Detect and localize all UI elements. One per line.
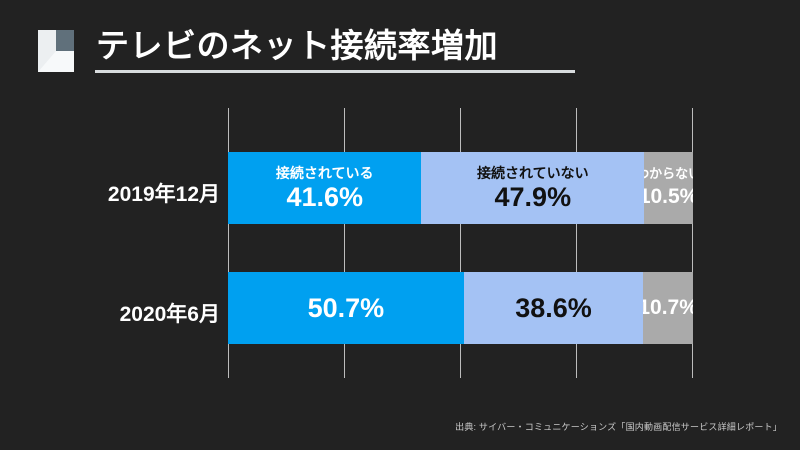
bar-segment-not-connected-2020-06[interactable]: 38.6% xyxy=(464,272,643,344)
segment-category-label-connected: 接続されている xyxy=(276,165,374,182)
chart-plot-area: 接続されている 41.6% 接続されていない 47.9% わからない 10.5%… xyxy=(228,108,693,378)
bar-segment-connected-2019-12[interactable]: 接続されている 41.6% xyxy=(228,152,421,224)
bar-row-2020-06: 50.7% 38.6% 10.7% xyxy=(228,272,693,344)
category-label-2019-12: 2019年12月 xyxy=(20,178,220,208)
segment-value-label-not-connected-2020-06: 38.6% xyxy=(515,293,592,323)
segment-value-label-not-connected-2019-12: 47.9% xyxy=(495,182,572,212)
segment-value-label-connected-2020-06: 50.7% xyxy=(308,293,385,323)
bar-row-2019-12: 接続されている 41.6% 接続されていない 47.9% わからない 10.5% xyxy=(228,152,693,224)
bar-segment-unknown-2019-12[interactable]: わからない 10.5% xyxy=(644,152,693,224)
segment-value-label-unknown-2020-06: 10.7% xyxy=(643,293,693,323)
segment-category-label-not-connected: 接続されていない xyxy=(477,165,589,182)
segment-value-label-connected-2019-12: 41.6% xyxy=(286,182,363,212)
bar-segment-unknown-2020-06[interactable]: 10.7% xyxy=(643,272,693,344)
segment-value-label-unknown-2019-12: 10.5% xyxy=(644,182,693,212)
bar-segment-not-connected-2019-12[interactable]: 接続されていない 47.9% xyxy=(421,152,644,224)
segment-category-label-unknown: わからない xyxy=(644,165,693,182)
bar-segment-connected-2020-06[interactable]: 50.7% xyxy=(228,272,464,344)
category-label-2020-06: 2020年6月 xyxy=(20,298,220,328)
slide-canvas: テレビのネット接続率増加 2019年12月 2020年6月 接続されている 41… xyxy=(0,0,800,450)
source-attribution: 出典: サイバー・コミュニケーションズ「国内動画配信サービス詳細レポート」 xyxy=(455,420,782,433)
category-label-column: 2019年12月 2020年6月 xyxy=(8,0,220,450)
